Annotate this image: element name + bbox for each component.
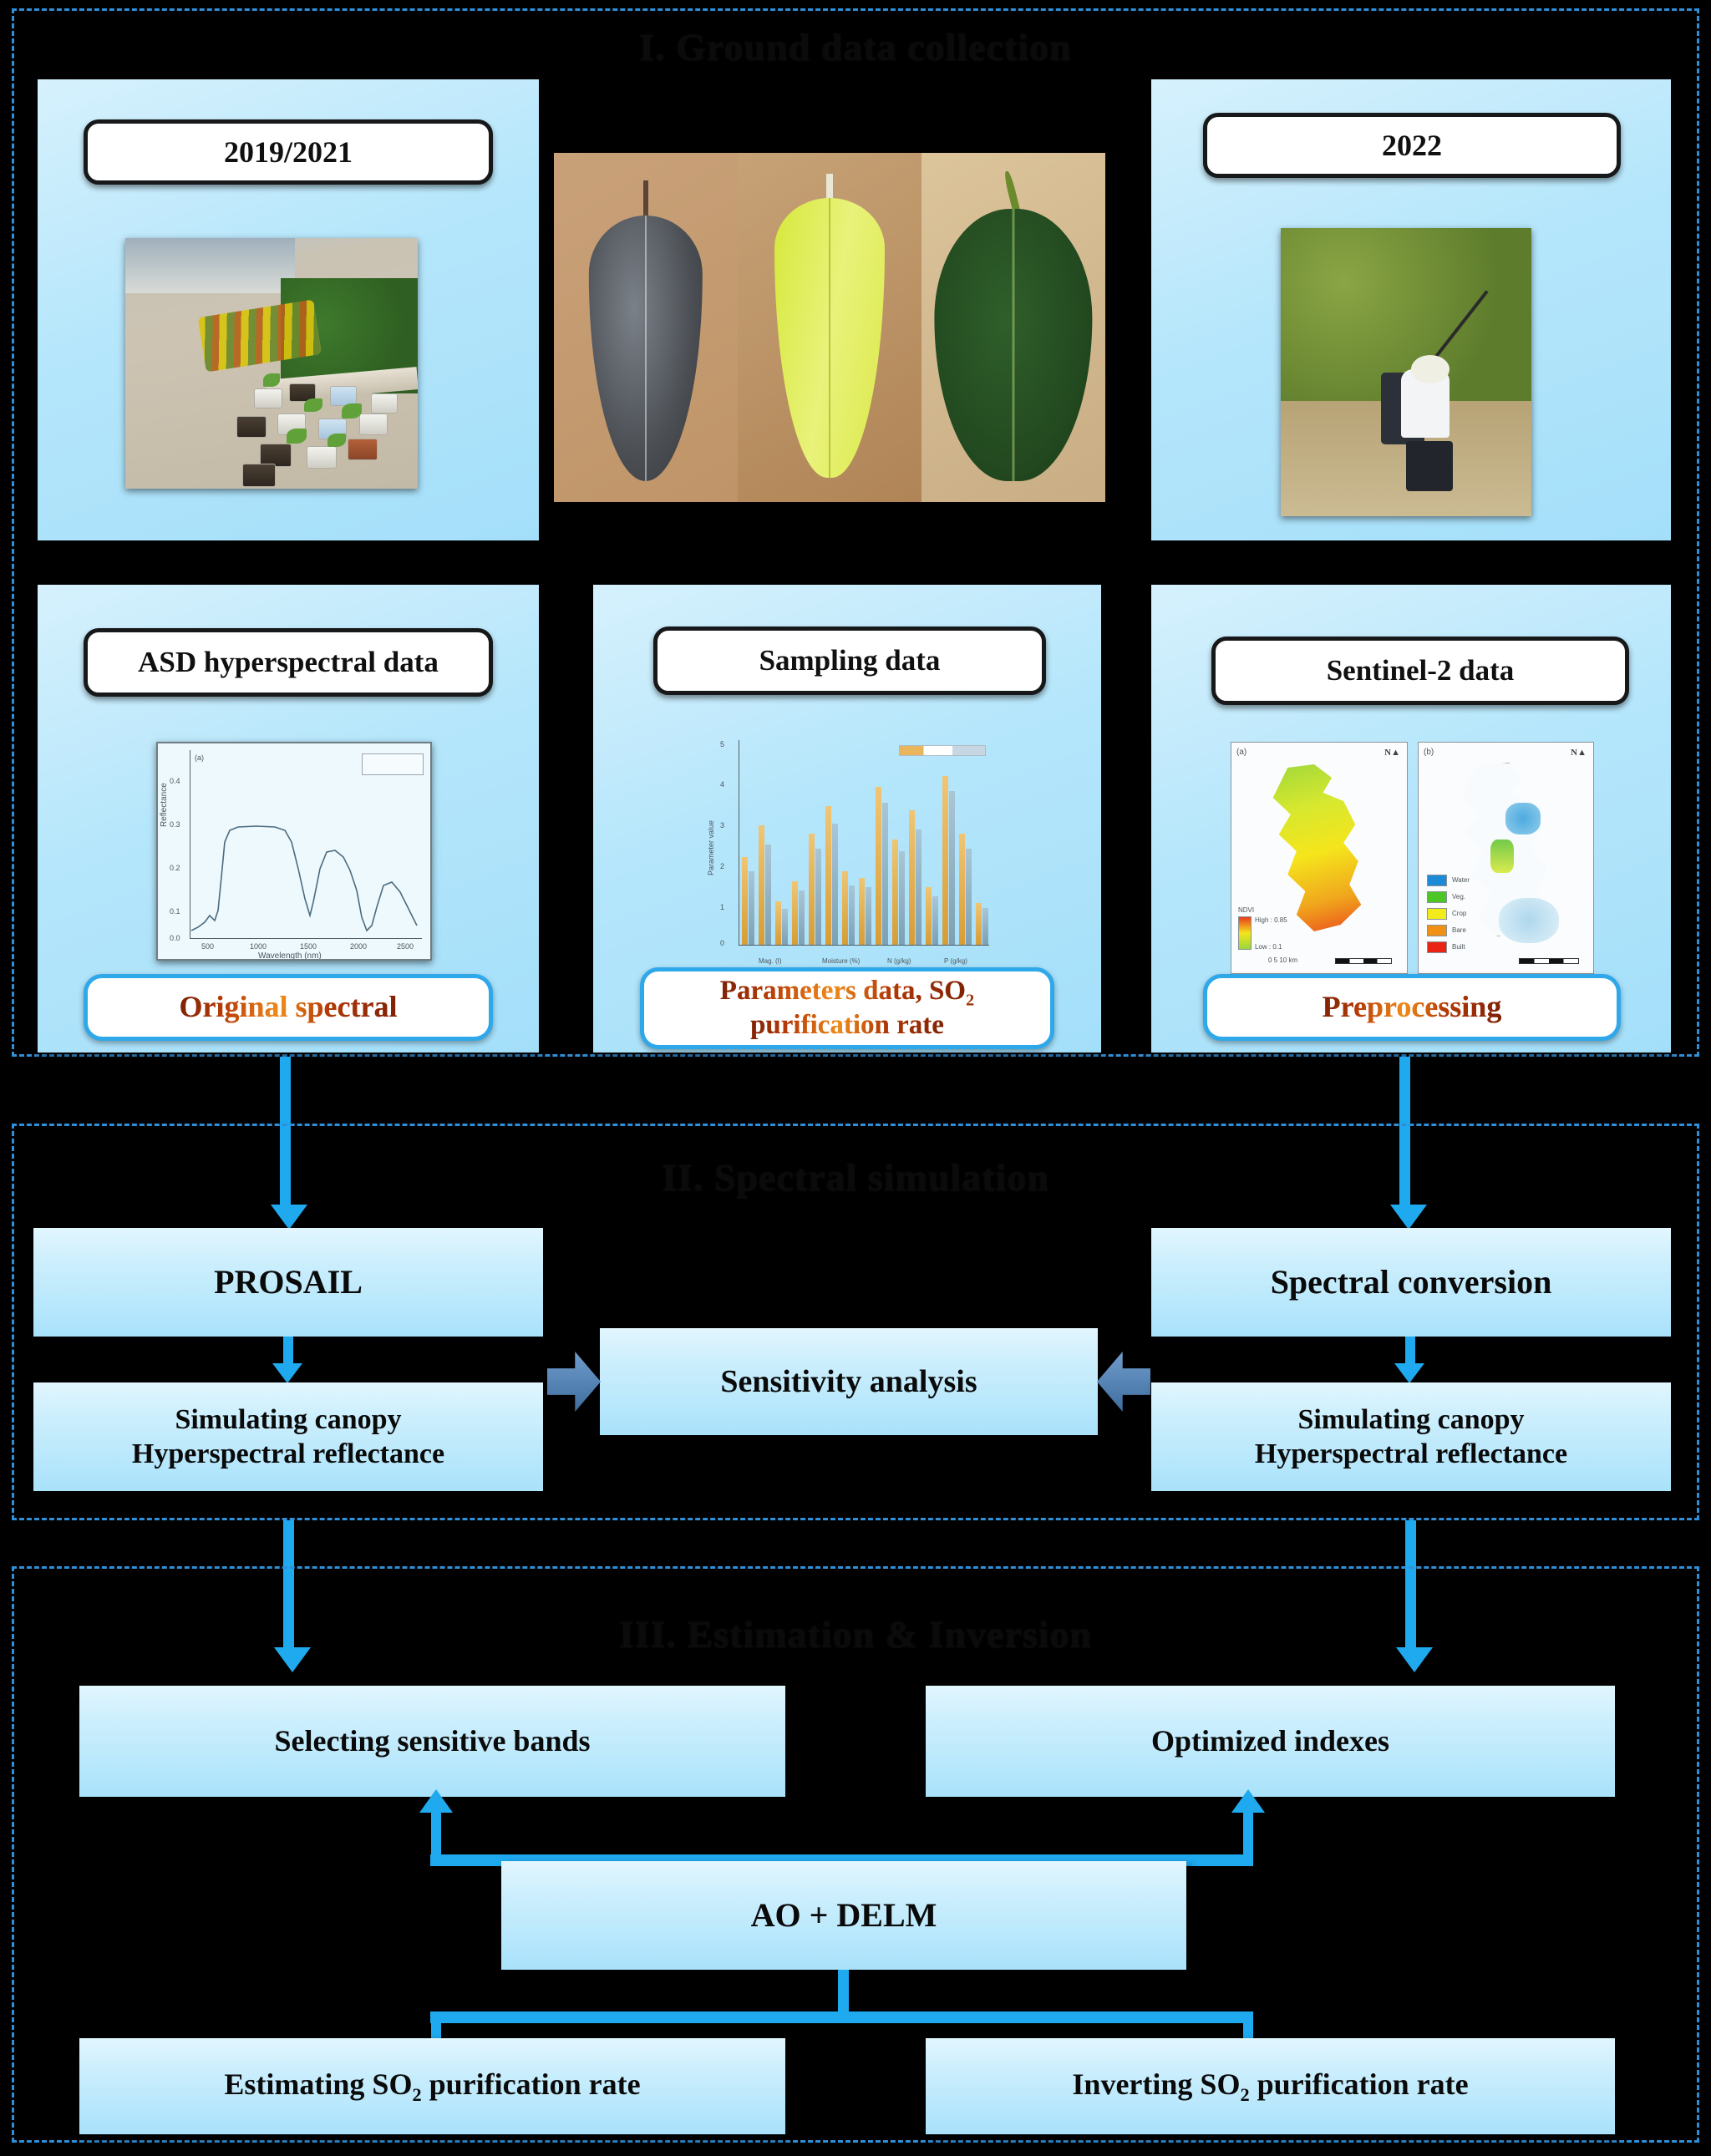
map-vector-boundaries: (b) N▲ Water Veg. Crop Bare Built [1418,742,1594,974]
grouped-bar-chart: 5 4 3 2 1 0 Parameter value [702,733,994,967]
chip-sentinel2-data: Sentinel-2 data [1211,637,1629,705]
sim-left-line2: Hyperspectral reflectance [132,1437,444,1471]
chip-2019-2021: 2019/2021 [84,119,493,185]
result-parameters-data: Parameters data, SO2 purification rate [640,967,1054,1049]
box-simulating-canopy-right[interactable]: Simulating canopy Hyperspectral reflecta… [1151,1382,1671,1491]
estimating-label: Estimating SO2 purification rate [224,2067,640,2106]
north-arrow-icon: N▲ [1571,748,1587,758]
spectral-reflectance-curve-plot: 0.4 0.3 0.2 0.1 0.0 500 1000 1500 2000 2… [156,742,432,961]
box-simulating-canopy-left[interactable]: Simulating canopy Hyperspectral reflecta… [33,1382,543,1491]
map-raster-ndvi: (a) N▲ NDVI High : 0.85 Low : 0.1 0 5 10… [1231,742,1408,974]
workflow-diagram: I. Ground data collection 2019/2021 [0,0,1711,2156]
arrow-bus-down [430,2011,1253,2023]
panel-2022: 2022 [1151,79,1671,540]
box-selecting-sensitive-bands[interactable]: Selecting sensitive bands [79,1686,785,1797]
box-spectral-conversion[interactable]: Spectral conversion [1151,1228,1671,1337]
panel-sampling-data: Sampling data 5 4 3 2 1 0 Parameter valu… [593,585,1101,1053]
panel-sentinel2-data: Sentinel-2 data (a) N▲ NDVI High : 0.85 … [1151,585,1671,1053]
section-title-ground: I. Ground data collection [0,25,1711,69]
sim-right-line1: Simulating canopy [1297,1403,1524,1437]
section-title-estimation: III. Estimation & Inversion [0,1612,1711,1656]
leaf-triptych-photo [554,153,1105,502]
inverting-label: Inverting SO2 purification rate [1072,2067,1468,2106]
sentinel2-maps: (a) N▲ NDVI High : 0.85 Low : 0.1 0 5 10… [1231,742,1594,974]
section-title-spectral: II. Spectral simulation [0,1155,1711,1200]
panel-asd-hyperspectral: ASD hyperspectral data 0.4 0.3 0.2 0.1 0… [38,585,539,1053]
field-spectroradiometer-operator-photo [1281,228,1531,516]
chip-2022: 2022 [1203,113,1621,178]
sim-right-line2: Hyperspectral reflectance [1255,1437,1567,1471]
panel-2019-2021: 2019/2021 [38,79,539,540]
box-optimized-indexes[interactable]: Optimized indexes [926,1686,1615,1797]
box-prosail[interactable]: PROSAIL [33,1228,543,1337]
result-original-spectral: Original spectral [84,974,493,1041]
chip-sampling-data: Sampling data [653,627,1046,695]
box-ao-delm[interactable]: AO + DELM [501,1861,1186,1970]
sim-left-line1: Simulating canopy [175,1403,401,1437]
north-arrow-icon: N▲ [1384,748,1400,758]
result-preprocessing: Preprocessing [1203,974,1621,1041]
greenhouse-potted-plants-photo [125,238,418,489]
box-estimating-so2-purification-rate[interactable]: Estimating SO2 purification rate [79,2038,785,2134]
chip-asd-hyperspectral-data: ASD hyperspectral data [84,628,493,697]
box-sensitivity-analysis[interactable]: Sensitivity analysis [600,1328,1098,1435]
box-inverting-so2-purification-rate[interactable]: Inverting SO2 purification rate [926,2038,1615,2134]
